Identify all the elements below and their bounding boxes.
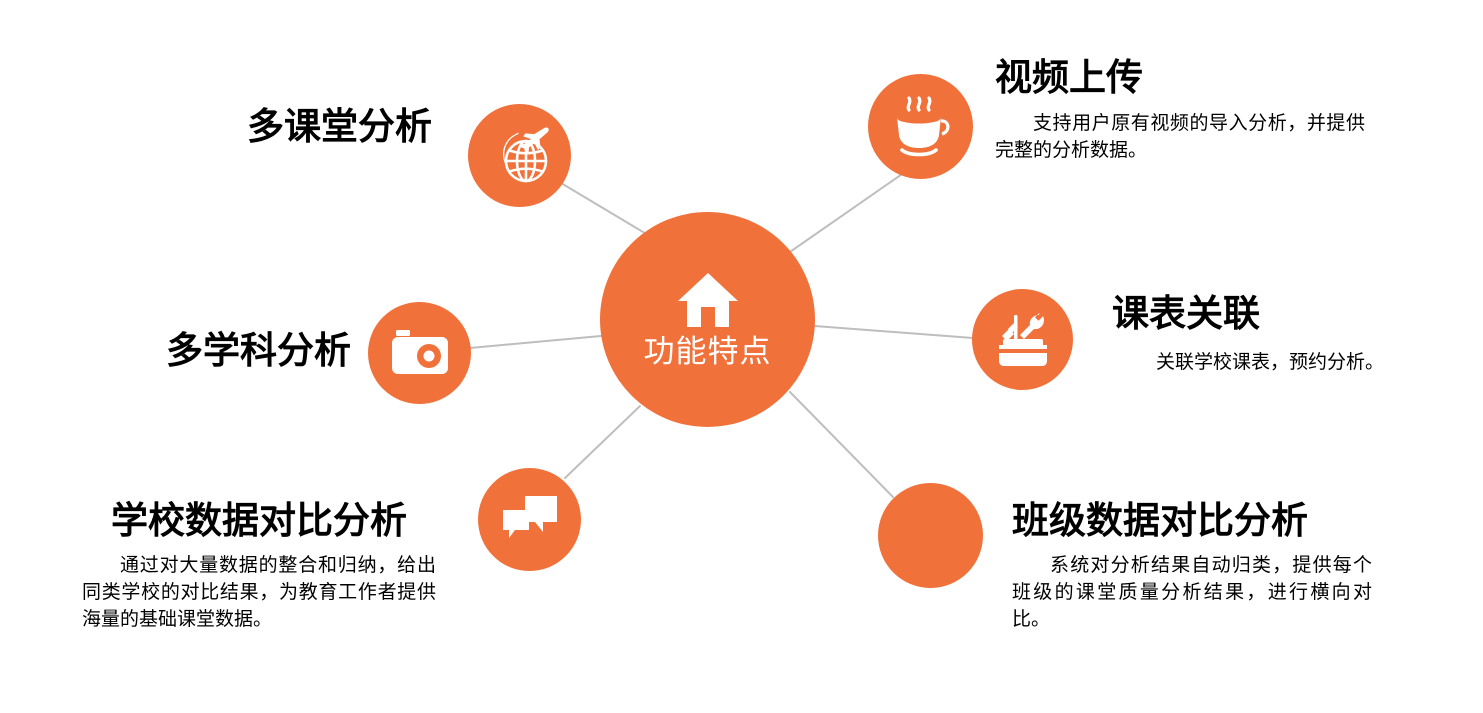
- connector-hub-to-video: [787, 172, 905, 254]
- node-icon-video[interactable]: [868, 74, 973, 179]
- text-block-schedule: 课表关联 关联学校课表，预约分析。: [1112, 293, 1384, 376]
- node-title-multiclass: 多课堂分析: [247, 106, 432, 148]
- connector-hub-to-classdata: [790, 392, 893, 497]
- globe-airplane-icon: [485, 123, 555, 189]
- node-icon-schedule[interactable]: [972, 289, 1073, 390]
- node-desc-video: 支持用户原有视频的导入分析，并提供完整的分析数据。: [995, 110, 1365, 164]
- node-icon-multiclass[interactable]: [468, 104, 571, 207]
- text-block-video: 视频上传 支持用户原有视频的导入分析，并提供完整的分析数据。: [995, 57, 1365, 164]
- node-title-schedule: 课表关联: [1112, 293, 1384, 335]
- node-icon-classdata[interactable]: [878, 483, 983, 588]
- home-icon: [676, 271, 740, 329]
- node-title-subject: 多学科分析: [166, 330, 351, 372]
- node-title-classdata: 班级数据对比分析: [1012, 500, 1372, 542]
- chat-bubbles-icon: [499, 492, 561, 548]
- text-block-multiclass: 多课堂分析: [247, 106, 432, 148]
- text-block-schooldata: 学校数据对比分析 通过对大量数据的整合和归纳，给出同类学校的对比结果，为教育工作…: [82, 500, 436, 633]
- camera-icon: [388, 328, 452, 378]
- toolbox-icon: [990, 309, 1056, 371]
- connector-hub-to-multiclass: [556, 180, 648, 235]
- node-icon-schooldata[interactable]: [478, 468, 581, 571]
- text-block-classdata: 班级数据对比分析 系统对分析结果自动归类，提供每个班级的课堂质量分析结果，进行横…: [1012, 500, 1372, 633]
- node-title-video: 视频上传: [995, 57, 1365, 99]
- node-desc-schedule: 关联学校课表，预约分析。: [1112, 349, 1384, 376]
- connector-hub-to-subject: [470, 336, 601, 348]
- connector-hub-to-schooldata: [565, 406, 640, 478]
- coffee-cup-icon: [885, 93, 957, 161]
- connector-hub-to-schedule: [815, 326, 973, 338]
- node-title-schooldata: 学校数据对比分析: [82, 500, 436, 542]
- hub-label: 功能特点: [644, 335, 772, 369]
- node-icon-subject[interactable]: [368, 302, 471, 404]
- node-desc-classdata: 系统对分析结果自动归类，提供每个班级的课堂质量分析结果，进行横向对比。: [1012, 552, 1372, 633]
- hub-node-功能特点[interactable]: 功能特点: [600, 212, 815, 427]
- diagram-canvas: 功能特点 多课堂分析: [0, 0, 1483, 713]
- node-desc-schooldata: 通过对大量数据的整合和归纳，给出同类学校的对比结果，为教育工作者提供海量的基础课…: [82, 552, 436, 633]
- text-block-subject: 多学科分析: [166, 330, 351, 372]
